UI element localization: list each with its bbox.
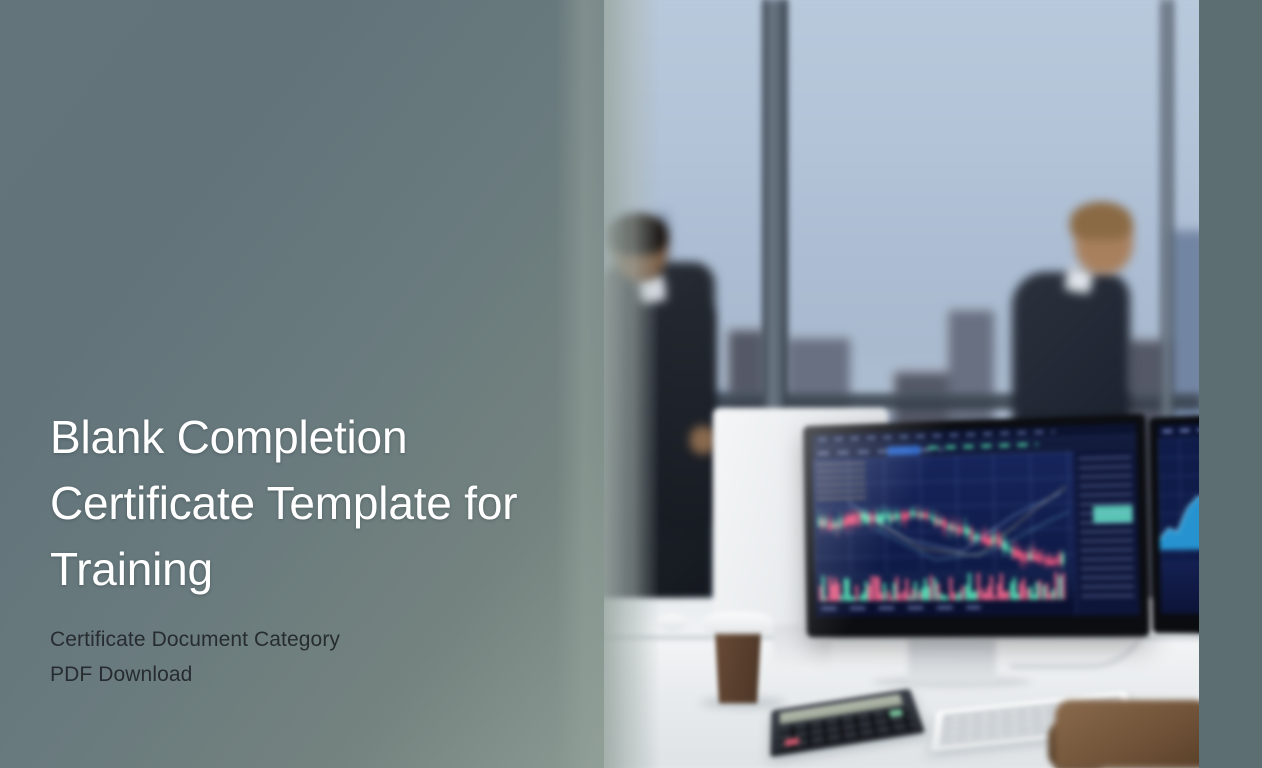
coffee-cup: [710, 622, 766, 704]
secondary-toolbar: [1158, 419, 1200, 439]
page-title-line-2: Certificate Template for: [50, 477, 517, 529]
coffee-cup-lid: [703, 612, 773, 634]
chart-footer-tabs: [816, 599, 1076, 617]
secondary-monitor-screen: [1158, 419, 1200, 615]
price-highlight: [1093, 505, 1133, 523]
secondary-chart-lower: [1160, 560, 1200, 615]
area-chart: [1158, 435, 1200, 550]
right-edge-strip: [1199, 0, 1262, 768]
page-title: Blank Completion Certificate Template fo…: [50, 404, 570, 602]
page-title-line-3: Training: [50, 543, 213, 595]
office-chair: [1055, 700, 1200, 768]
indicator-legend: [816, 462, 866, 502]
trading-monitor-screen: [813, 423, 1140, 617]
trading-monitor: [803, 414, 1150, 638]
businessman-left-arm: [660, 300, 714, 530]
document-category: Certificate Document Category: [50, 622, 570, 657]
order-book-panel: [1072, 450, 1139, 616]
window-mullion-2: [1160, 0, 1174, 430]
mouse: [655, 615, 689, 631]
hero-text-block: Blank Completion Certificate Template fo…: [50, 404, 570, 692]
page-title-line-1: Blank Completion: [50, 411, 407, 463]
symbol-tag: [887, 446, 920, 456]
document-format: PDF Download: [50, 657, 570, 692]
screenshot-canvas: Blank Completion Certificate Template fo…: [0, 0, 1262, 768]
page-subtitle: Certificate Document Category PDF Downlo…: [50, 622, 570, 692]
businessman-right-hair: [1070, 202, 1132, 240]
window-mullion: [762, 0, 788, 470]
volume-bars: [815, 569, 1075, 602]
secondary-monitor: [1149, 410, 1200, 635]
